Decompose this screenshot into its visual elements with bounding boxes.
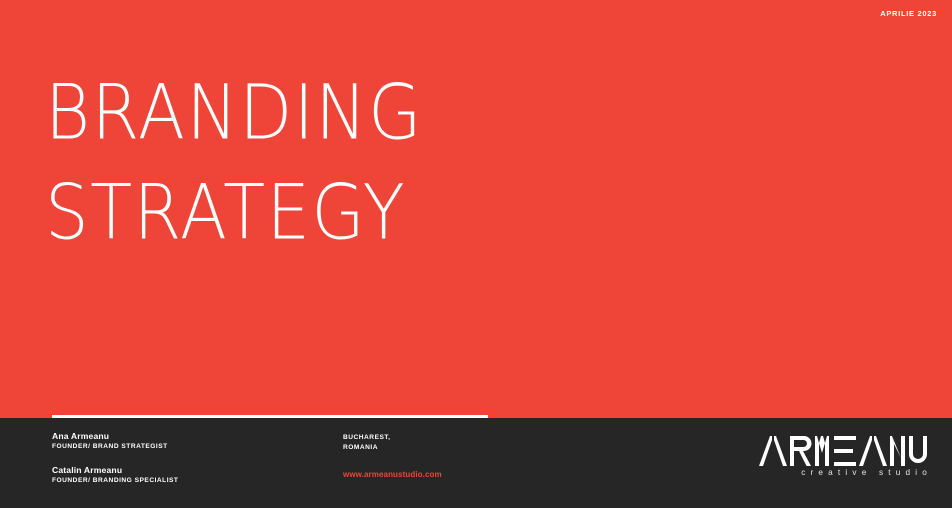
- person-name: Ana Armeanu: [52, 431, 312, 442]
- slide-footer: Ana Armeanu FOUNDER/ BRAND STRATEGIST Ca…: [0, 418, 952, 508]
- title-line-1: BRANDING: [45, 62, 603, 164]
- list-item: Ana Armeanu FOUNDER/ BRAND STRATEGIST: [52, 431, 312, 452]
- person-role: FOUNDER/ BRAND STRATEGIST: [52, 442, 312, 452]
- footer-contact-column: BUCHAREST, ROMANIA www.armeanustudio.com: [343, 433, 543, 480]
- company-logo: creative studio: [759, 436, 934, 477]
- armeanu-wordmark-icon: [759, 436, 927, 466]
- website-link[interactable]: www.armeanustudio.com: [343, 469, 543, 480]
- contact-city: BUCHAREST,: [343, 433, 543, 443]
- list-item: Catalin Armeanu FOUNDER/ BRANDING SPECIA…: [52, 465, 312, 486]
- footer-people-column: Ana Armeanu FOUNDER/ BRAND STRATEGIST Ca…: [52, 431, 312, 486]
- title-line-2: STRATEGY: [45, 162, 603, 264]
- page-title: BRANDING STRATEGY: [45, 63, 645, 263]
- slide-date-label: APRILIE 2023: [880, 9, 937, 18]
- contact-country: ROMANIA: [343, 443, 543, 453]
- person-name: Catalin Armeanu: [52, 465, 312, 476]
- person-role: FOUNDER/ BRANDING SPECIALIST: [52, 476, 312, 486]
- logo-tagline: creative studio: [759, 468, 934, 477]
- presentation-slide: APRILIE 2023 BRANDING STRATEGY Ana Armea…: [0, 0, 952, 508]
